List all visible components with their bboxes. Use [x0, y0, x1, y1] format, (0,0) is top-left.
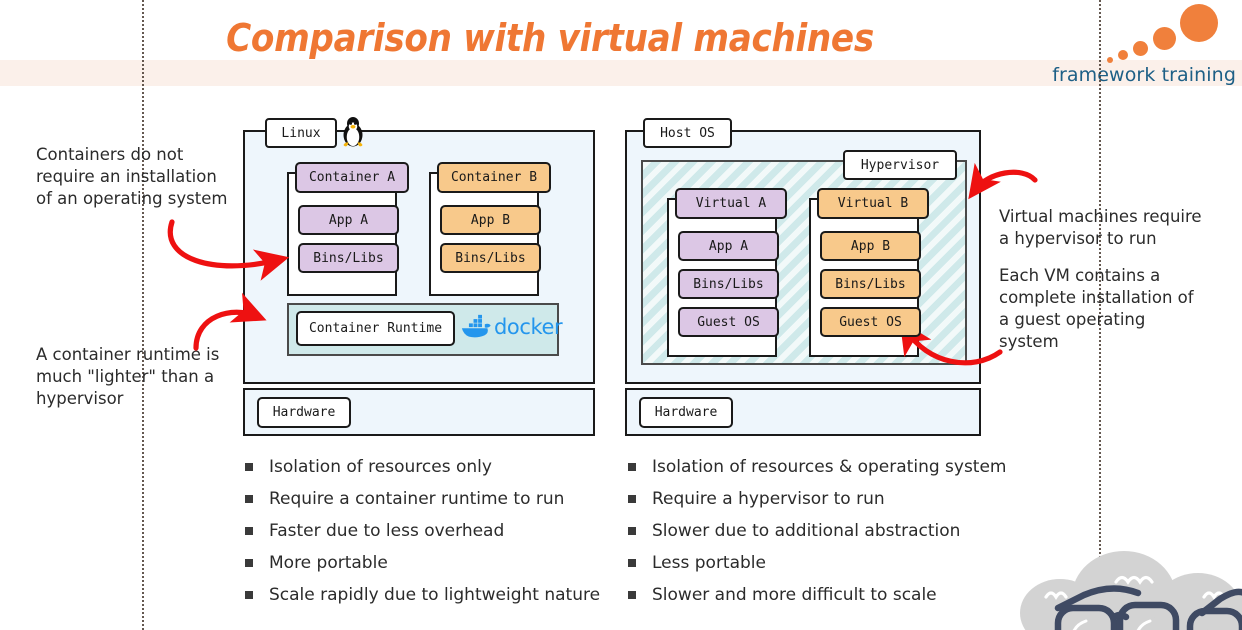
- bullet-square-icon: [628, 559, 636, 567]
- virtual-b-row-bins: Bins/Libs: [820, 269, 921, 299]
- docker-whale-icon: [461, 314, 491, 339]
- bullet-square-icon: [245, 591, 253, 599]
- list-item-label: Scale rapidly due to lightweight nature: [269, 583, 600, 607]
- vm-characteristics-list: Isolation of resources & operating syste…: [628, 455, 1007, 615]
- logo-text: framework training: [1052, 64, 1236, 86]
- list-item: More portable: [245, 551, 600, 583]
- bullet-square-icon: [628, 495, 636, 503]
- hardware-label-left: Hardware: [257, 397, 351, 428]
- hardware-label-right: Hardware: [639, 397, 733, 428]
- arrow-right-top: [975, 172, 1035, 190]
- hypervisor-label: Hypervisor: [843, 150, 957, 180]
- slide: Comparison with virtual machines framewo…: [0, 0, 1242, 630]
- container-a-row-bins: Bins/Libs: [298, 243, 399, 273]
- guide-line-left: [142, 0, 144, 630]
- annotation-left-bottom: A container runtime is much "lighter" th…: [36, 344, 231, 410]
- annotation-right-bottom: Each VM contains a complete installation…: [999, 265, 1204, 353]
- bullet-square-icon: [245, 527, 253, 535]
- list-item-label: Isolation of resources only: [269, 455, 492, 479]
- bullet-square-icon: [245, 463, 253, 471]
- tux-penguin-icon: [340, 116, 366, 148]
- list-item: Faster due to less overhead: [245, 519, 600, 551]
- list-item: Scale rapidly due to lightweight nature: [245, 583, 600, 615]
- list-item: Less portable: [628, 551, 1007, 583]
- virtual-a-row-guest-os: Guest OS: [678, 307, 779, 337]
- list-item: Isolation of resources & operating syste…: [628, 455, 1007, 487]
- virtual-a-row-app: App A: [678, 231, 779, 261]
- bullet-square-icon: [628, 463, 636, 471]
- container-a-row-app: App A: [298, 205, 399, 235]
- host-os-label: Host OS: [643, 118, 732, 148]
- virtual-a-title: Virtual A: [675, 188, 787, 219]
- virtual-machine-architecture-diagram: Host OS Hypervisor Virtual A App A Bins/…: [625, 118, 978, 433]
- list-item: Slower and more difficult to scale: [628, 583, 1007, 615]
- annotation-right-top: Virtual machines require a hypervisor to…: [999, 206, 1204, 250]
- docker-logo: docker: [461, 314, 562, 339]
- container-benefits-list: Isolation of resources only Require a co…: [245, 455, 600, 615]
- virtual-a-row-bins: Bins/Libs: [678, 269, 779, 299]
- virtual-b-row-app: App B: [820, 231, 921, 261]
- bullet-square-icon: [245, 559, 253, 567]
- logo-dot-3: [1133, 41, 1148, 56]
- logo-dot-5: [1107, 57, 1113, 63]
- container-runtime-label: Container Runtime: [296, 311, 455, 346]
- list-item-label: Require a hypervisor to run: [652, 487, 885, 511]
- container-b-title: Container B: [437, 162, 551, 193]
- list-item-label: Less portable: [652, 551, 766, 575]
- container-b-row-app: App B: [440, 205, 541, 235]
- person-with-glasses-illustration: [1012, 525, 1242, 630]
- annotation-left-top: Containers do not require an installatio…: [36, 144, 236, 210]
- brand-logo: framework training: [1054, 0, 1240, 88]
- list-item-label: Require a container runtime to run: [269, 487, 564, 511]
- bullet-square-icon: [628, 527, 636, 535]
- list-item-label: More portable: [269, 551, 388, 575]
- container-architecture-diagram: Linux Container A App A Bins/Libs Contai…: [243, 118, 596, 433]
- logo-dot-4: [1118, 50, 1128, 60]
- list-item-label: Faster due to less overhead: [269, 519, 504, 543]
- container-b-row-bins: Bins/Libs: [440, 243, 541, 273]
- logo-dot-1: [1180, 4, 1218, 42]
- list-item: Isolation of resources only: [245, 455, 600, 487]
- bullet-square-icon: [628, 591, 636, 599]
- virtual-b-row-guest-os: Guest OS: [820, 307, 921, 337]
- list-item: Require a hypervisor to run: [628, 487, 1007, 519]
- list-item-label: Slower and more difficult to scale: [652, 583, 937, 607]
- virtual-b-title: Virtual B: [817, 188, 929, 219]
- logo-dot-2: [1153, 27, 1176, 50]
- list-item-label: Isolation of resources & operating syste…: [652, 455, 1007, 479]
- bullet-square-icon: [245, 495, 253, 503]
- list-item-label: Slower due to additional abstraction: [652, 519, 960, 543]
- list-item: Slower due to additional abstraction: [628, 519, 1007, 551]
- docker-wordmark: docker: [494, 315, 562, 339]
- list-item: Require a container runtime to run: [245, 487, 600, 519]
- linux-os-label: Linux: [265, 118, 337, 148]
- container-a-title: Container A: [295, 162, 409, 193]
- page-title: Comparison with virtual machines: [140, 16, 960, 60]
